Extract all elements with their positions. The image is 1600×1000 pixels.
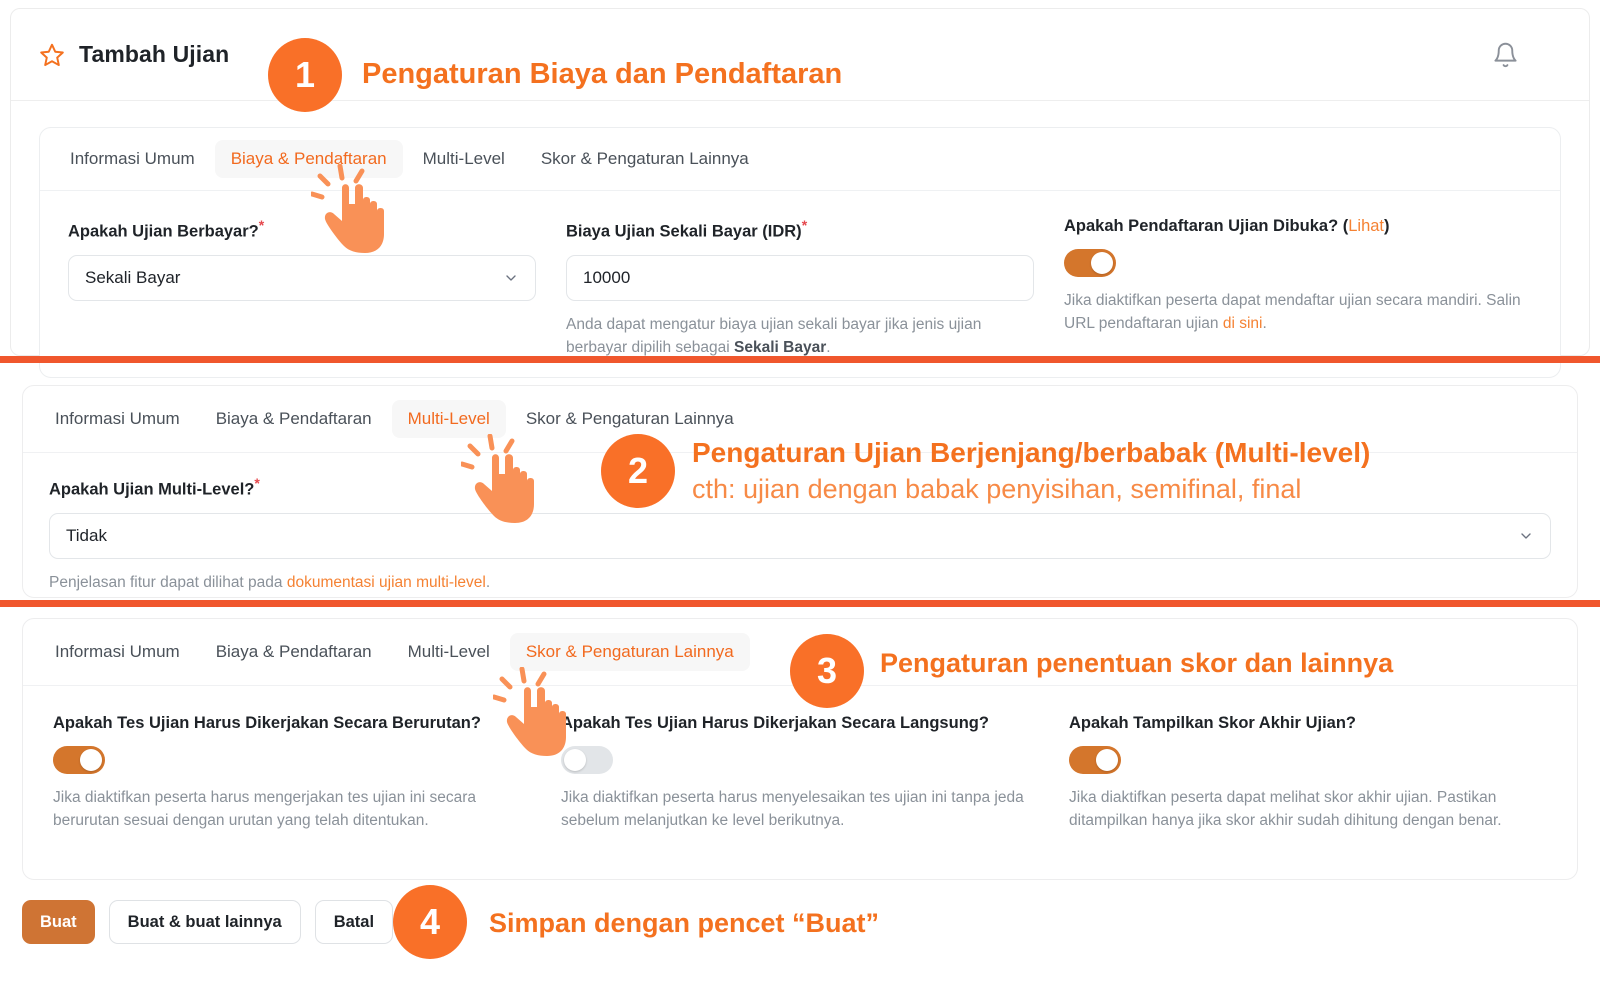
tab-multi-level[interactable]: Multi-Level (392, 400, 506, 438)
toggle-tampilkan-skor[interactable] (1069, 746, 1121, 774)
field-help-text: Jika diaktifkan peserta dapat melihat sk… (1069, 786, 1547, 833)
field-tampilkan-skor: Apakah Tampilkan Skor Akhir Ujian? Jika … (1069, 714, 1547, 833)
annotation-title-1: Pengaturan Biaya dan Pendaftaran (362, 58, 842, 91)
label-text: Apakah Ujian Berbayar? (68, 223, 259, 241)
field-langsung: Apakah Tes Ujian Harus Dikerjakan Secara… (561, 714, 1069, 833)
tab-biaya-pendaftaran[interactable]: Biaya & Pendaftaran (200, 400, 388, 438)
tab-row-1: Informasi Umum Biaya & Pendaftaran Multi… (40, 128, 1560, 191)
star-icon[interactable] (39, 42, 65, 68)
label-post: ) (1384, 217, 1390, 235)
field-help-text: Penjelasan fitur dapat dilihat pada doku… (49, 571, 1551, 594)
dokumentasi-link[interactable]: dokumentasi ujian multi-level (287, 574, 486, 591)
field-label: Biaya Ujian Sekali Bayar (IDR)* (566, 217, 1034, 242)
required-marker: * (259, 217, 264, 233)
annotation-title-2: Pengaturan Ujian Berjenjang/berbabak (Mu… (692, 437, 1370, 469)
form-grid-1: Apakah Ujian Berbayar?* Sekali Bayar Bia… (40, 191, 1560, 377)
field-berurutan: Apakah Tes Ujian Harus Dikerjakan Secara… (53, 714, 561, 833)
annotation-badge-4: 4 (393, 885, 467, 959)
field-label: Apakah Ujian Berbayar?* (68, 217, 536, 242)
toggle-knob (1096, 749, 1118, 771)
help-bold: Sekali Bayar (734, 339, 826, 356)
field-help-text: Jika diaktifkan peserta harus menyelesai… (561, 786, 1039, 833)
toggle-knob (1091, 252, 1113, 274)
notification-bell-button[interactable] (1492, 41, 1519, 68)
chevron-down-icon (503, 270, 519, 286)
toggle-langsung[interactable] (561, 746, 613, 774)
field-apakah-ujian-berbayar: Apakah Ujian Berbayar?* Sekali Bayar (68, 217, 566, 359)
lihat-link[interactable]: Lihat (1348, 217, 1384, 235)
select-value: Sekali Bayar (85, 268, 180, 288)
footer-action-bar: Buat Buat & buat lainnya Batal (22, 900, 393, 944)
buat-button[interactable]: Buat (22, 900, 95, 944)
field-label: Apakah Tes Ujian Harus Dikerjakan Secara… (53, 714, 531, 733)
tab-informasi-umum[interactable]: Informasi Umum (39, 633, 196, 671)
bell-icon (1492, 41, 1519, 68)
toggle-berurutan[interactable] (53, 746, 105, 774)
label-text: Biaya Ujian Sekali Bayar (IDR) (566, 223, 802, 241)
field-label: Apakah Tampilkan Skor Akhir Ujian? (1069, 714, 1547, 733)
tab-skor-pengaturan-lainnya[interactable]: Skor & Pengaturan Lainnya (525, 140, 765, 178)
help-post: . (826, 339, 830, 356)
field-help-text: Jika diaktifkan peserta harus mengerjaka… (53, 786, 531, 833)
label-text: Apakah Ujian Multi-Level? (49, 481, 254, 499)
annotation-subtitle-2: cth: ujian dengan babak penyisihan, semi… (692, 474, 1301, 505)
annotation-badge-1: 1 (268, 38, 342, 112)
chevron-down-icon (1518, 528, 1534, 544)
field-pendaftaran-dibuka: Apakah Pendaftaran Ujian Dibuka? (Lihat)… (1064, 217, 1532, 359)
tab-card-1: Informasi Umum Biaya & Pendaftaran Multi… (39, 127, 1561, 378)
annotation-title-3: Pengaturan penentuan skor dan lainnya (880, 648, 1393, 679)
batal-button[interactable]: Batal (315, 900, 393, 944)
section-divider-2 (0, 600, 1600, 607)
toggle-knob (564, 749, 586, 771)
tab-multi-level[interactable]: Multi-Level (392, 633, 506, 671)
required-marker: * (802, 217, 807, 233)
page-title: Tambah Ujian (79, 41, 229, 68)
help-post: . (1262, 315, 1266, 332)
select-value: Tidak (66, 526, 107, 546)
select-ujian-berbayar[interactable]: Sekali Bayar (68, 255, 536, 301)
field-help-text: Anda dapat mengatur biaya ujian sekali b… (566, 313, 1034, 360)
field-label: Apakah Pendaftaran Ujian Dibuka? (Lihat) (1064, 217, 1532, 236)
help-pre: Jika diaktifkan peserta dapat mendaftar … (1064, 292, 1521, 332)
help-pre: Penjelasan fitur dapat dilihat pada (49, 574, 287, 591)
annotation-badge-3: 3 (790, 634, 864, 708)
input-biaya-ujian[interactable]: 10000 (566, 255, 1034, 301)
tab-informasi-umum[interactable]: Informasi Umum (39, 400, 196, 438)
tab-multi-level[interactable]: Multi-Level (407, 140, 521, 178)
required-marker: * (254, 475, 259, 491)
toggle-knob (80, 749, 102, 771)
di-sini-link[interactable]: di sini (1223, 315, 1263, 332)
select-multi-level[interactable]: Tidak (49, 513, 1551, 559)
label-pre: Apakah Pendaftaran Ujian Dibuka? ( (1064, 217, 1348, 235)
field-help-text: Jika diaktifkan peserta dapat mendaftar … (1064, 289, 1532, 336)
tab-biaya-pendaftaran[interactable]: Biaya & Pendaftaran (200, 633, 388, 671)
section-divider-1 (0, 356, 1600, 363)
field-label: Apakah Tes Ujian Harus Dikerjakan Secara… (561, 714, 1039, 733)
tab-skor-pengaturan-lainnya[interactable]: Skor & Pengaturan Lainnya (510, 633, 750, 671)
buat-dan-buat-lainnya-button[interactable]: Buat & buat lainnya (109, 900, 301, 944)
tab-informasi-umum[interactable]: Informasi Umum (54, 140, 211, 178)
annotation-badge-2: 2 (601, 434, 675, 508)
toggle-pendaftaran-dibuka[interactable] (1064, 249, 1116, 277)
tab-skor-pengaturan-lainnya[interactable]: Skor & Pengaturan Lainnya (510, 400, 750, 438)
screen-root: Tambah Ujian Informasi Umum Biaya & Pend… (0, 0, 1600, 1000)
field-biaya-ujian: Biaya Ujian Sekali Bayar (IDR)* 10000 An… (566, 217, 1064, 359)
input-value: 10000 (583, 268, 630, 288)
form-grid-3: Apakah Tes Ujian Harus Dikerjakan Secara… (23, 686, 1577, 833)
help-post: . (486, 574, 490, 591)
tab-biaya-pendaftaran[interactable]: Biaya & Pendaftaran (215, 140, 403, 178)
annotation-title-4: Simpan dengan pencet “Buat” (489, 908, 879, 939)
